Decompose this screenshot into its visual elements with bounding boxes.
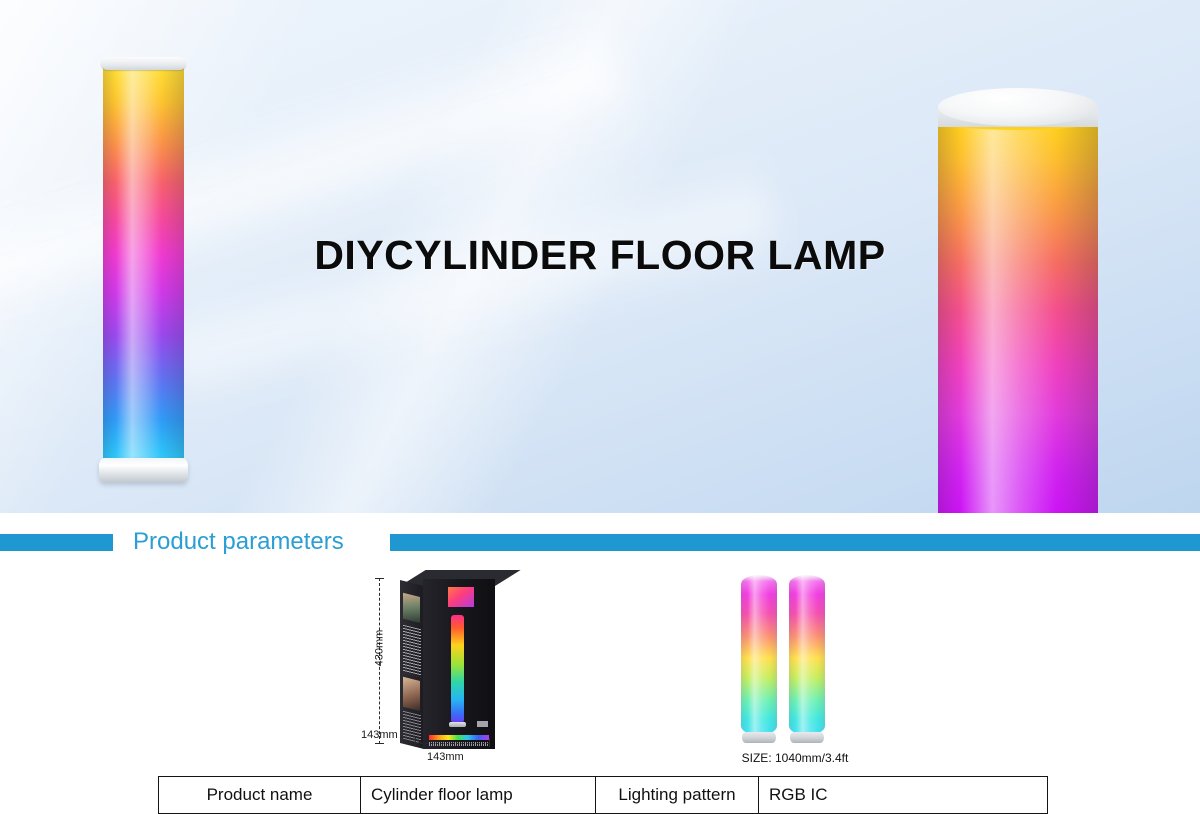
- section-title: Product parameters: [133, 528, 344, 556]
- section-accent-bar-right: [390, 534, 1200, 551]
- twin-lamp-left: [741, 575, 777, 743]
- hero-light-streak: [0, 6, 645, 384]
- hero-light-streak-secondary: [156, 157, 784, 414]
- dimension-tick-right: [489, 738, 490, 747]
- section-accent-bar-left: [0, 534, 113, 551]
- table-cell-label-lighting-pattern: Lighting pattern: [596, 777, 759, 814]
- lamp-top-cap-icon: [101, 57, 186, 70]
- packaging-box-front-face: [423, 579, 495, 749]
- packaging-box-side-face: [400, 580, 424, 749]
- twin-lamp-right: [789, 575, 825, 743]
- lamp-base-ring-icon: [790, 732, 824, 743]
- section-header-product-parameters: Product parameters: [0, 513, 1200, 570]
- package-side-photo-icon: [403, 593, 420, 623]
- packaging-depth-label: 143mm: [361, 729, 398, 741]
- product-photo-twin-lamps: SIZE: 1040mm/3.4ft: [733, 575, 853, 760]
- table-cell-label-product-name: Product name: [159, 777, 361, 814]
- package-side-text-block: [403, 625, 421, 677]
- package-side-photo-icon-2: [403, 677, 420, 711]
- table-cell-value-lighting-pattern: RGB IC: [759, 777, 1048, 814]
- lamp-base-ring-icon: [742, 732, 776, 743]
- rgb-gradient-cylinder-lamp-right: [938, 88, 1098, 513]
- package-certification-icon: [477, 714, 488, 727]
- lamp-gradient-body: [741, 575, 777, 735]
- parameters-media-row: 430mm 143mm 143mm: [0, 570, 1200, 770]
- package-brand-badge-icon: [448, 587, 474, 607]
- packaging-width-dimension-line: [415, 735, 490, 744]
- lamp-base-ring-icon: [99, 458, 188, 482]
- table-cell-value-product-name: Cylinder floor lamp: [361, 777, 596, 814]
- page-title: DIYCYLINDER FLOOR LAMP: [0, 232, 1200, 279]
- hero-banner: DIYCYLINDER FLOOR LAMP: [0, 0, 1200, 513]
- packaging-height-label: 430mm: [373, 630, 385, 667]
- lamp-gradient-body: [789, 575, 825, 735]
- table-row: Product name Cylinder floor lamp Lightin…: [159, 777, 1048, 814]
- lamp-gradient-body: [938, 119, 1098, 513]
- lamp-top-cap-icon: [938, 88, 1098, 126]
- package-lamp-photo-icon: [451, 615, 464, 723]
- packaging-width-label: 143mm: [427, 751, 464, 763]
- dimension-tick-left: [415, 738, 416, 747]
- dimension-tick-top: [375, 578, 384, 579]
- dimension-tick-bottom: [375, 743, 384, 744]
- product-size-caption: SIZE: 1040mm/3.4ft: [720, 751, 870, 765]
- product-parameters-table: Product name Cylinder floor lamp Lightin…: [158, 776, 1048, 814]
- package-lamp-photo-base: [449, 722, 466, 727]
- packaging-box-diagram: 430mm 143mm 143mm: [375, 570, 535, 765]
